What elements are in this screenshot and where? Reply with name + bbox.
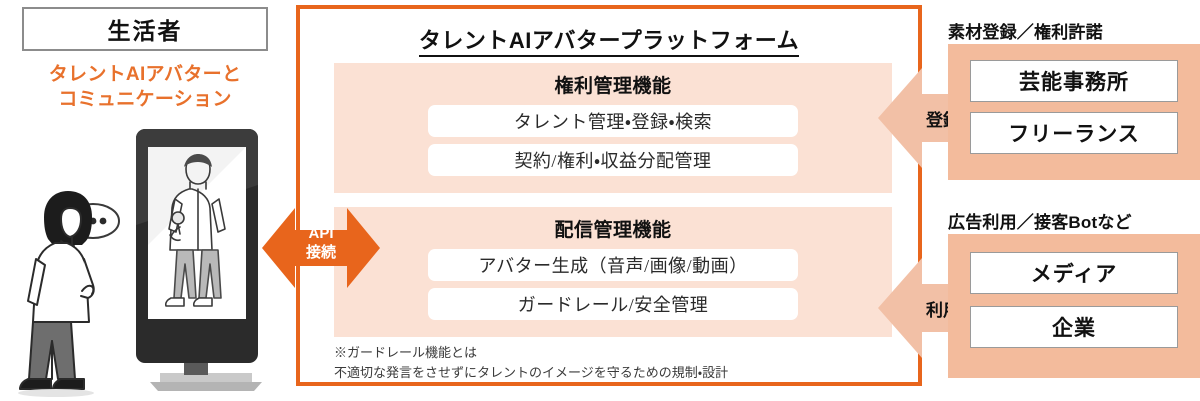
function-group-rights: 権利管理機能 タレント管理・登録・検索 契約/権利・収益分配管理 xyxy=(334,63,892,193)
consumer-caption-line-1: タレントAIアバターと xyxy=(22,62,268,87)
consumer-box: 生活者 xyxy=(22,7,268,51)
api-arrow-shape xyxy=(262,208,380,288)
supply-side-panel: 芸能事務所 フリーランス xyxy=(948,44,1200,180)
guardrail-footnote: ※ガードレール機能とは 不適切な発言をさせずにタレントのイメージを守るための規制… xyxy=(334,343,728,382)
function-group-delivery: 配信管理機能 アバター生成（音声/画像/動画） ガードレール/安全管理 xyxy=(334,207,892,337)
function-item-avatar-generation[interactable]: アバター生成（音声/画像/動画） xyxy=(428,249,798,281)
diagram-canvas: 生活者 タレントAIアバターと コミュニケーション xyxy=(0,0,1200,401)
demand-item-media[interactable]: メディア xyxy=(970,252,1178,294)
function-group-rights-title: 権利管理機能 xyxy=(334,71,892,98)
consumer-person-figure xyxy=(18,191,94,397)
kiosk-icon xyxy=(136,129,262,391)
function-item-guardrail-safety[interactable]: ガードレール/安全管理 xyxy=(428,288,798,320)
consumer-box-label: 生活者 xyxy=(108,12,183,46)
platform-title: タレントAIアバタープラットフォーム xyxy=(300,23,918,55)
supply-side-label: 素材登録／権利許諾 xyxy=(948,18,1103,43)
function-group-delivery-title: 配信管理機能 xyxy=(334,215,892,242)
function-item-talent-management[interactable]: タレント管理・登録・検索 xyxy=(428,105,798,137)
consumer-kiosk-illustration xyxy=(8,125,288,397)
demand-side-panel: メディア 企業 xyxy=(948,234,1200,378)
demand-side-label: 広告利用／接客Botなど xyxy=(948,208,1132,233)
demand-item-enterprise[interactable]: 企業 xyxy=(970,306,1178,348)
platform-box: タレントAIアバタープラットフォーム 権利管理機能 タレント管理・登録・検索 契… xyxy=(296,5,922,386)
supply-item-agency[interactable]: 芸能事務所 xyxy=(970,60,1178,102)
consumer-caption: タレントAIアバターと コミュニケーション xyxy=(22,62,268,112)
api-connection-arrow: API 接続 xyxy=(262,199,380,297)
supply-item-freelance[interactable]: フリーランス xyxy=(970,112,1178,154)
consumer-caption-line-2: コミュニケーション xyxy=(22,87,268,112)
platform-title-text: タレントAIアバタープラットフォーム xyxy=(419,28,799,57)
function-item-contract-rights-revenue[interactable]: 契約/権利・収益分配管理 xyxy=(428,144,798,176)
